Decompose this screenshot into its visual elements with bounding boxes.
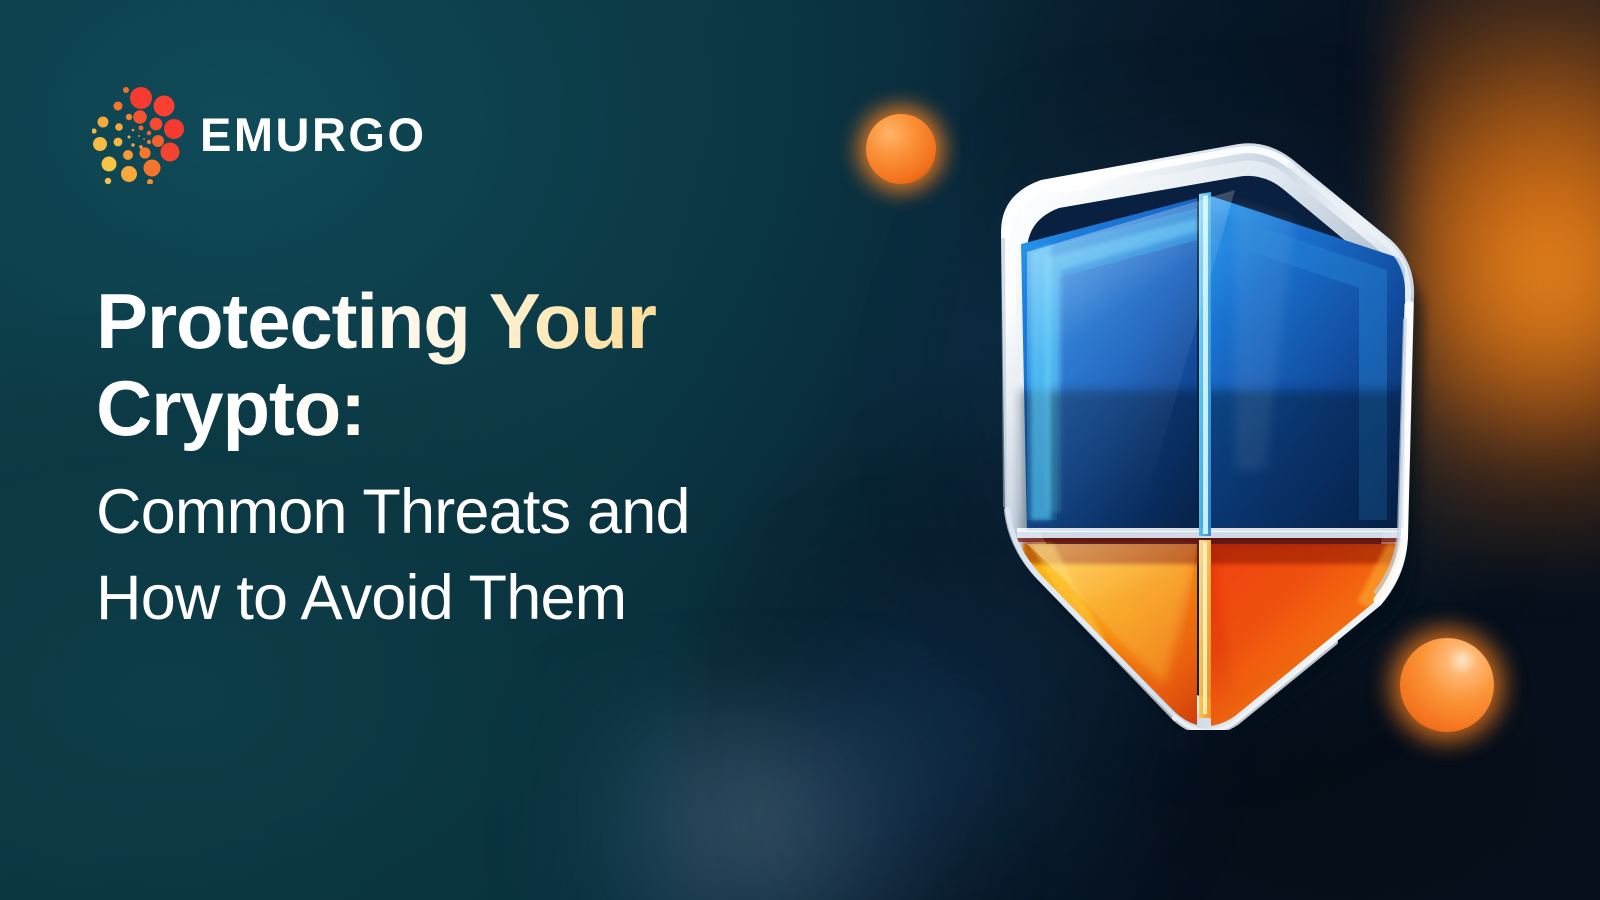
shield-3d-icon (935, 140, 1445, 730)
orange-sphere-bottom-icon (1400, 638, 1494, 732)
background-orange-glow-core (1430, 120, 1600, 450)
hero-banner: EMURGO Protecting Your Crypto: Common Th… (0, 0, 1600, 900)
subheadline-line-1: Common Threats and (96, 470, 886, 556)
shield-graphic (935, 140, 1445, 730)
headline-line-2: Crypto: (96, 365, 886, 452)
headline-block: Protecting Your Crypto: Common Threats a… (96, 278, 886, 641)
cardano-spiral-dots-icon (92, 84, 184, 184)
emurgo-wordmark: EMURGO (200, 111, 427, 158)
subheadline-line-2: How to Avoid Them (96, 556, 886, 642)
emurgo-logo[interactable]: EMURGO (92, 84, 427, 184)
headline-line-1: Protecting Your (96, 278, 886, 365)
orange-sphere-top-icon (866, 114, 936, 184)
subheadline-block: Common Threats and How to Avoid Them (96, 470, 886, 641)
